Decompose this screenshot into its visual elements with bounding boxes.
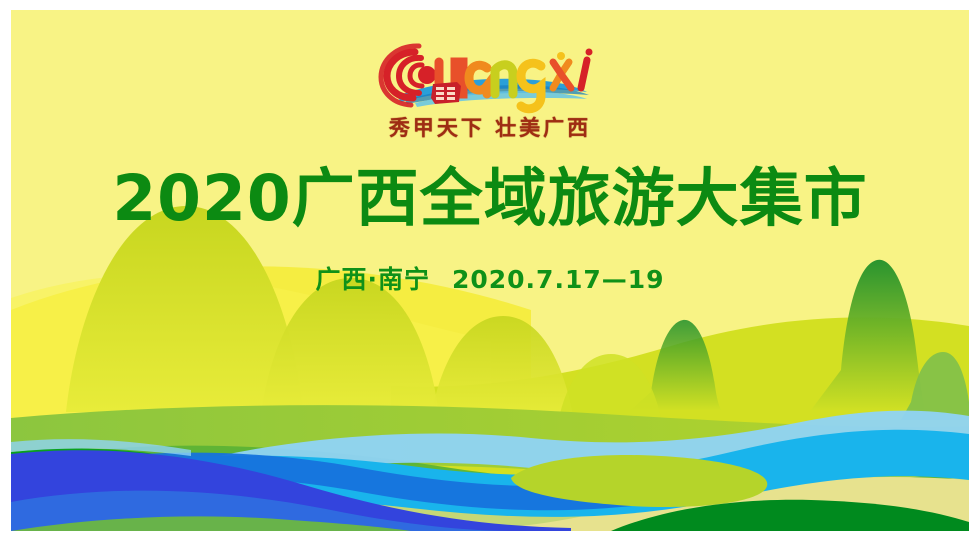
- logo-letter-i-dot: [586, 49, 593, 56]
- poster-canvas: 秀甲天下 壮美广西 2020广西全域旅游大集市 广西·南宁2020.7.17—1…: [11, 10, 969, 531]
- red-seal-stamp: [431, 82, 461, 104]
- event-location: 广西·南宁: [315, 265, 430, 294]
- logo-letter-g-dot: [418, 66, 436, 84]
- poster-headline: 2020广西全域旅游大集市: [11, 166, 969, 232]
- event-date-range: 2020.7.17—19: [452, 265, 665, 294]
- poster-subline: 广西·南宁2020.7.17—19: [11, 260, 969, 296]
- logo-letter-i: [581, 60, 587, 88]
- guangxi-logo-block: 秀甲天下 壮美广西: [11, 32, 969, 139]
- guangxi-wordmark-logo: [375, 32, 605, 114]
- logo-tagline: 秀甲天下 壮美广西: [11, 116, 969, 139]
- logo-letter-g: [381, 46, 422, 105]
- logo-letter-x-figure: [553, 52, 571, 88]
- logo-letter-g2: [521, 63, 541, 109]
